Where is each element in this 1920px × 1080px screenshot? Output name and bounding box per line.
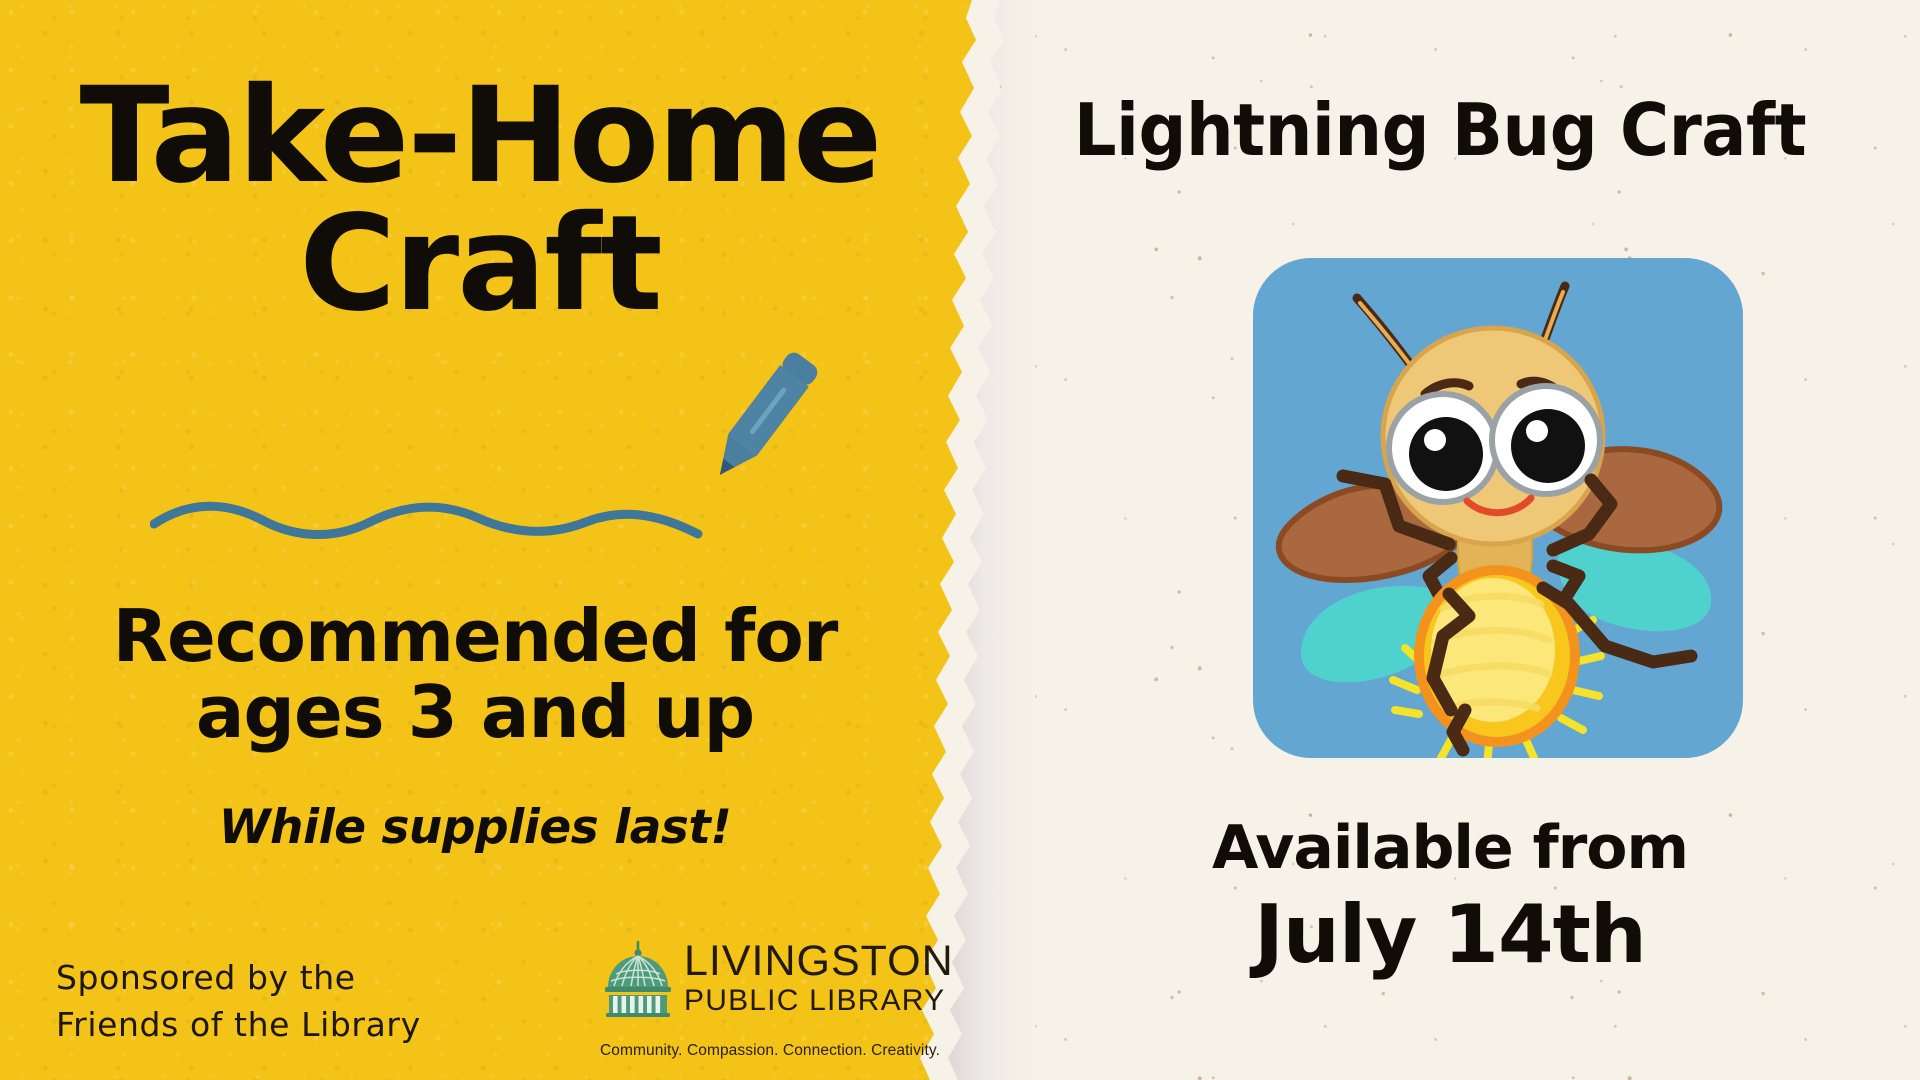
- age-line-1: Recommended for: [0, 598, 950, 674]
- availability-label: Available from: [1000, 818, 1900, 878]
- supplies-note: While supplies last!: [0, 800, 950, 855]
- sponsor-line-2: Friends of the Library: [56, 1002, 421, 1049]
- logo-name-line-1: LIVINGSTON: [684, 942, 954, 982]
- library-logo: LIVINGSTON PUBLIC LIBRARY Community. Com…: [600, 938, 940, 1060]
- pencil-icon: [700, 345, 830, 495]
- poster-canvas: Take-Home Craft Recommended for ages 3 a…: [0, 0, 1920, 1080]
- logo-tagline: Community. Compassion. Connection. Creat…: [600, 1042, 940, 1060]
- logo-name-line-2: PUBLIC LIBRARY: [684, 985, 954, 1017]
- age-recommendation: Recommended for ages 3 and up: [0, 598, 950, 751]
- right-panel-content: Lightning Bug Craft: [1010, 0, 1920, 1080]
- headline-line-2: Craft: [0, 200, 960, 328]
- headline-line-1: Take-Home: [0, 72, 960, 200]
- age-line-2: ages 3 and up: [0, 674, 950, 750]
- library-dome-icon: [600, 940, 676, 1018]
- lightning-bug-illustration: [1253, 258, 1743, 758]
- wavy-underline-icon: [150, 490, 710, 550]
- page-title: Take-Home Craft: [0, 72, 960, 328]
- sponsor-line-1: Sponsored by the: [56, 955, 421, 1002]
- availability-date: July 14th: [1000, 888, 1900, 981]
- craft-title: Lightning Bug Craft: [1022, 88, 1859, 172]
- sponsor-credit: Sponsored by the Friends of the Library: [56, 955, 421, 1049]
- lightning-bug-svg: [1253, 258, 1743, 758]
- left-panel-content: Take-Home Craft Recommended for ages 3 a…: [0, 0, 1010, 1080]
